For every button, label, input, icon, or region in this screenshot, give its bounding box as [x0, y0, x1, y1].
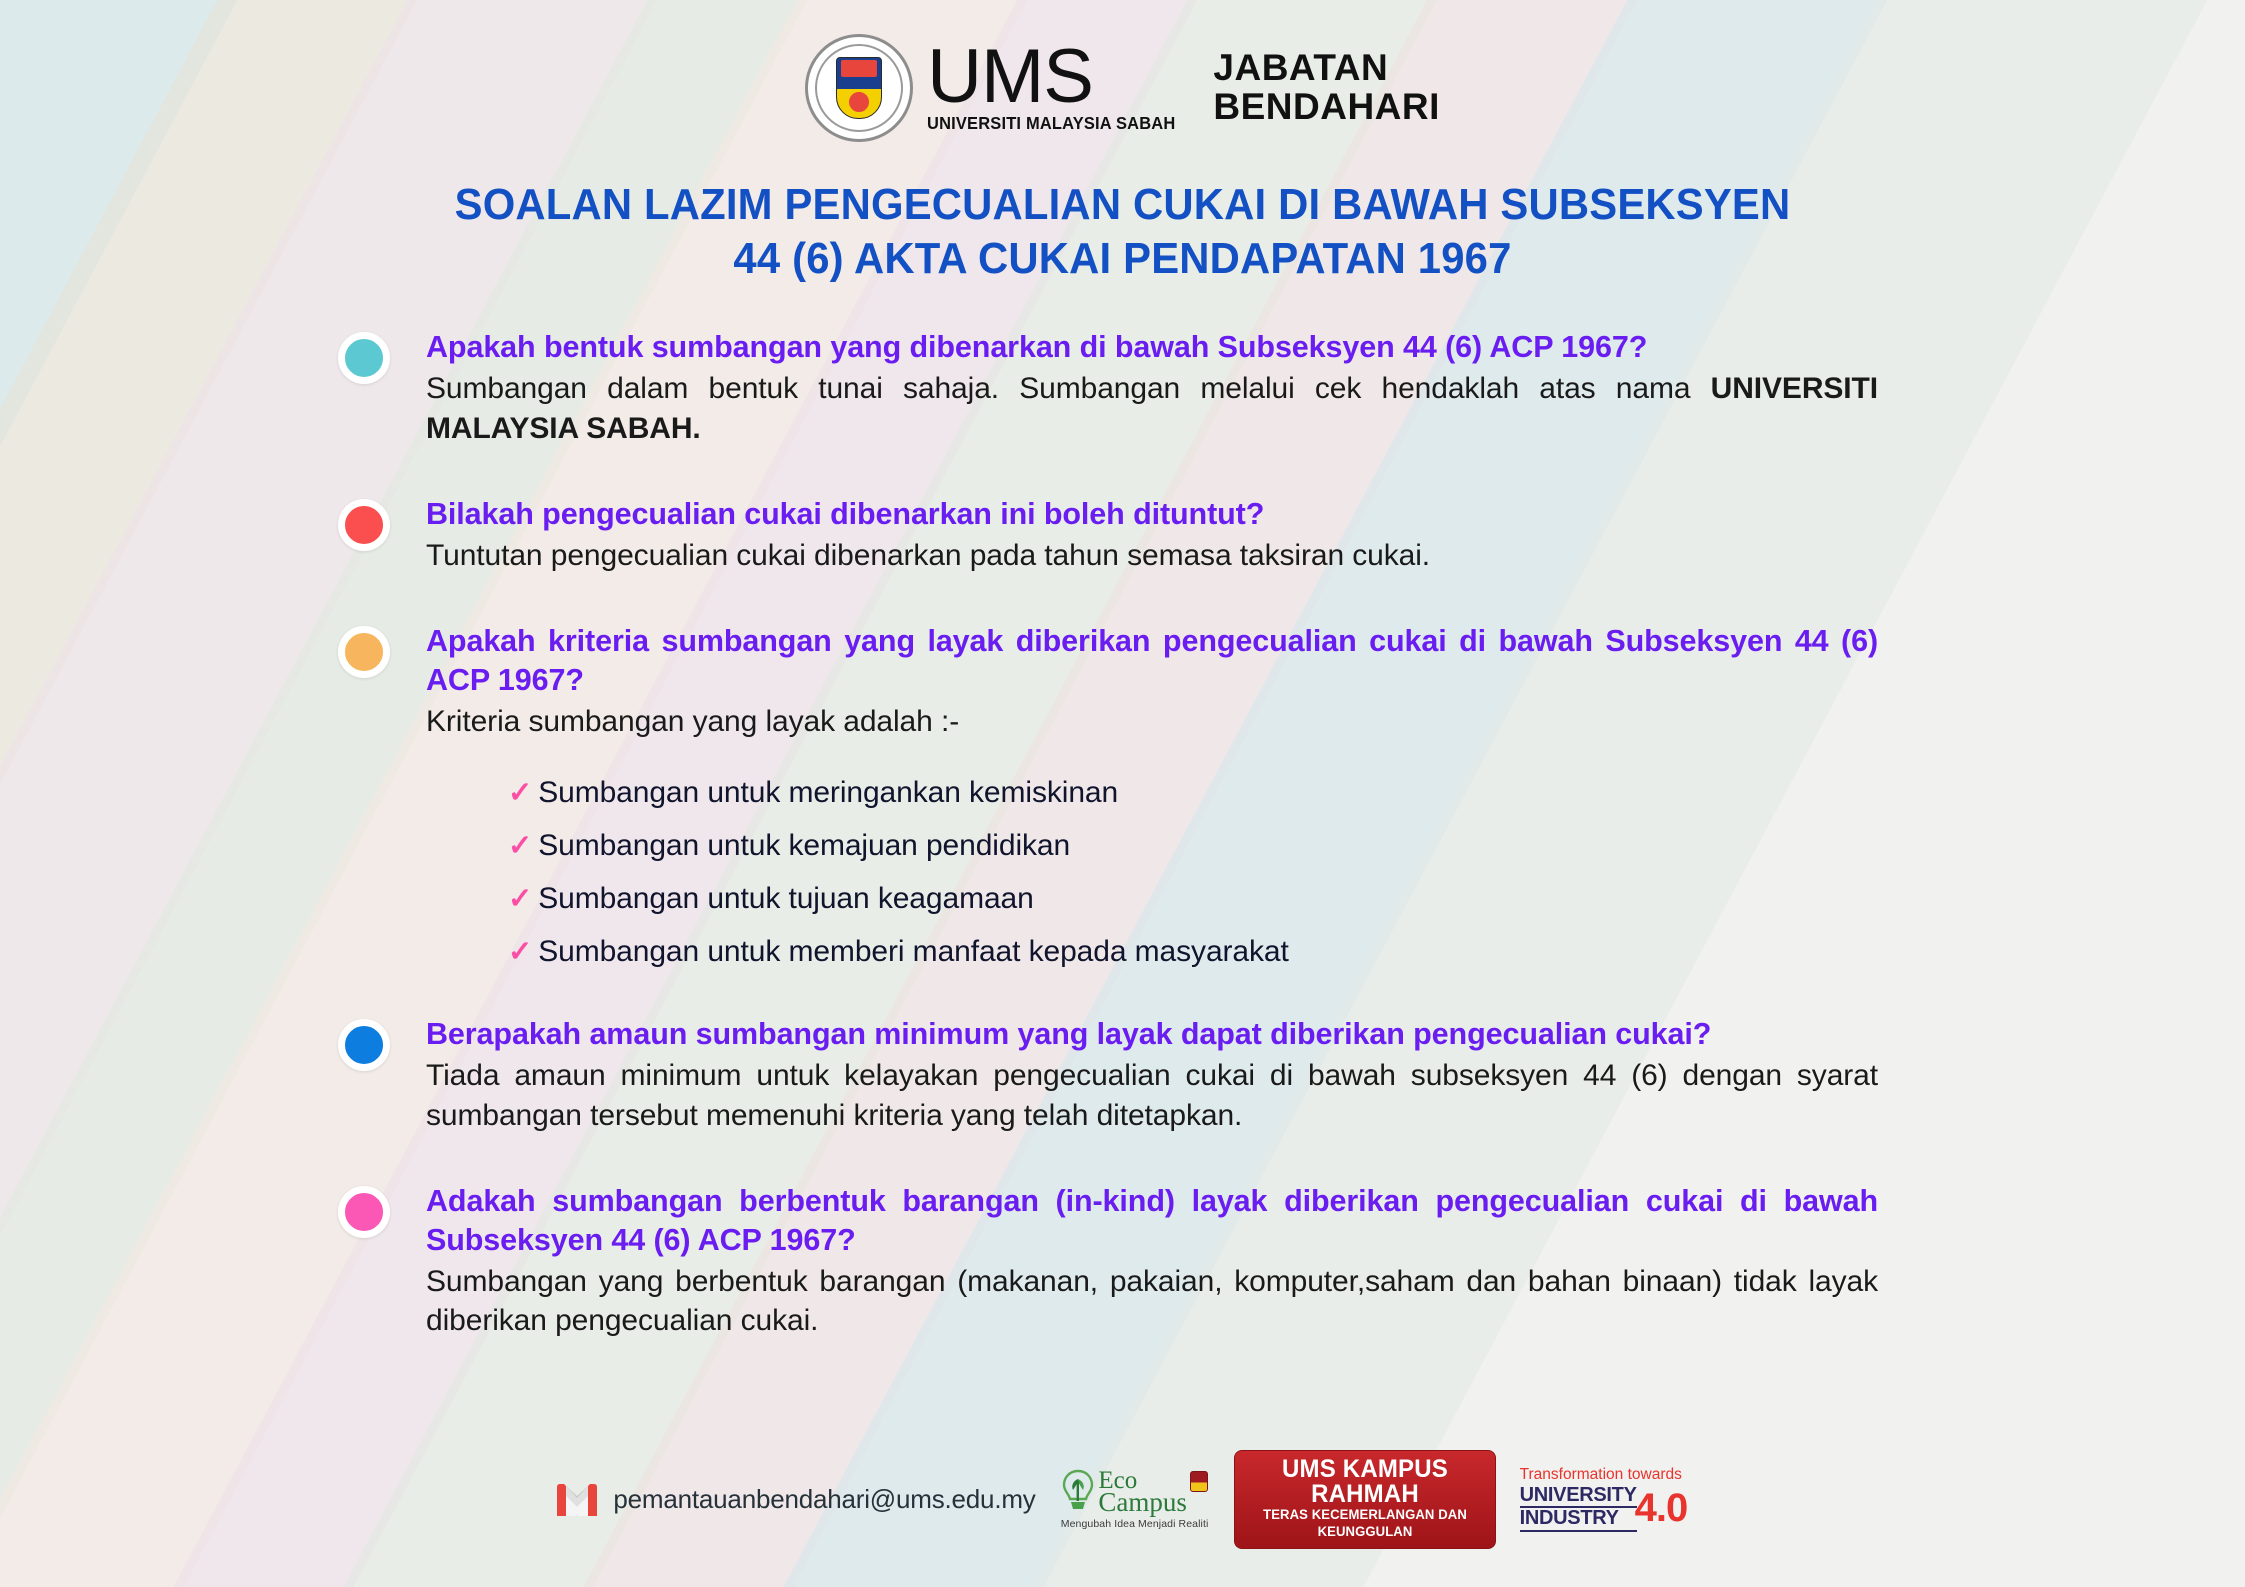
- department-name: JABATAN BENDAHARI: [1213, 49, 1440, 127]
- industry-word-university: UNIVERSITY: [1520, 1485, 1637, 1509]
- faq-list: Apakah bentuk sumbangan yang dibenarkan …: [338, 328, 1878, 1341]
- faq-answer-text: Sumbangan dalam bentuk tunai sahaja. Sum…: [426, 372, 1711, 405]
- poster-header: UMS UNIVERSITI MALAYSIA SABAH JABATAN BE…: [0, 28, 2245, 148]
- eco-campus-mark: Eco Campus: [1061, 1469, 1208, 1515]
- industry-version-number: 4.0: [1635, 1490, 1688, 1526]
- eco-tagline: Mengubah Idea Menjadi Realiti: [1061, 1518, 1209, 1530]
- criteria-item: ✓ Sumbangan untuk memberi manfaat kepada…: [508, 935, 1878, 969]
- criteria-checklist: ✓ Sumbangan untuk meringankan kemiskinan…: [426, 776, 1878, 969]
- industry-mark: UNIVERSITY INDUSTRY 4.0: [1520, 1485, 1690, 1532]
- rahmah-subtitle: TERAS KECEMERLANGAN DAN KEUNGGULAN: [1252, 1507, 1477, 1541]
- eco-mini-crest-icon: [1190, 1471, 1208, 1492]
- poster-footer: pemantauanbendahari@ums.edu.my Eco Campu…: [0, 1450, 2245, 1549]
- bullet-dot-icon: [338, 1186, 390, 1238]
- faq-answer: Tiada amaun minimum untuk kelayakan peng…: [426, 1056, 1878, 1136]
- rahmah-title: UMS KAMPUS RAHMAH: [1253, 1457, 1476, 1507]
- check-icon: ✓: [508, 938, 532, 967]
- faq-question: Adakah sumbangan berbentuk barangan (in-…: [426, 1182, 1878, 1260]
- faq-answer: Kriteria sumbangan yang layak adalah :-: [426, 702, 1878, 742]
- bullet-dot-icon: [338, 499, 390, 551]
- industry-word-industry: INDUSTRY: [1520, 1508, 1637, 1532]
- criteria-label: Sumbangan untuk tujuan keagamaan: [538, 882, 1034, 916]
- faq-item: Adakah sumbangan berbentuk barangan (in-…: [338, 1182, 1878, 1342]
- criteria-label: Sumbangan untuk meringankan kemiskinan: [538, 776, 1118, 810]
- eco-campus-logo: Eco Campus Mengubah Idea Menjadi Realiti: [1060, 1469, 1210, 1530]
- page-title: SOALAN LAZIM PENGECUALIAN CUKAI DI BAWAH…: [56, 178, 2189, 285]
- faq-item: Bilakah pengecualian cukai dibenarkan in…: [338, 495, 1878, 576]
- department-line-2: BENDAHARI: [1213, 88, 1440, 127]
- eco-line-2: Campus: [1098, 1491, 1187, 1514]
- faq-answer: Tuntutan pengecualian cukai dibenarkan p…: [426, 536, 1878, 576]
- industry-4-0-logo: Transformation towards UNIVERSITY INDUST…: [1520, 1467, 1690, 1532]
- faq-answer: Sumbangan yang berbentuk barangan (makan…: [426, 1262, 1878, 1342]
- faq-question: Apakah bentuk sumbangan yang dibenarkan …: [426, 328, 1878, 367]
- poster-root: UMS UNIVERSITI MALAYSIA SABAH JABATAN BE…: [0, 0, 2245, 1587]
- criteria-label: Sumbangan untuk kemajuan pendidikan: [538, 829, 1070, 863]
- faq-item: Apakah kriteria sumbangan yang layak dib…: [338, 622, 1878, 969]
- ums-wordmark: UMS UNIVERSITI MALAYSIA SABAH: [927, 42, 1191, 134]
- faq-item: Apakah bentuk sumbangan yang dibenarkan …: [338, 328, 1878, 449]
- bullet-dot-icon: [338, 626, 390, 678]
- eco-campus-wordmark: Eco Campus: [1098, 1470, 1187, 1515]
- email-address[interactable]: pemantauanbendahari@ums.edu.my: [613, 1484, 1035, 1515]
- bullet-dot-icon: [338, 332, 390, 384]
- ums-fullname: UNIVERSITI MALAYSIA SABAH: [927, 113, 1175, 134]
- eco-bulb-leaf-icon: [1061, 1469, 1095, 1515]
- ums-kampus-rahmah-logo: UMS KAMPUS RAHMAH TERAS KECEMERLANGAN DA…: [1234, 1450, 1496, 1549]
- criteria-item: ✓ Sumbangan untuk kemajuan pendidikan: [508, 829, 1878, 863]
- industry-tagline: Transformation towards: [1520, 1467, 1690, 1483]
- criteria-item: ✓ Sumbangan untuk tujuan keagamaan: [508, 882, 1878, 916]
- criteria-item: ✓ Sumbangan untuk meringankan kemiskinan: [508, 776, 1878, 810]
- criteria-label: Sumbangan untuk memberi manfaat kepada m…: [538, 935, 1289, 969]
- faq-question: Bilakah pengecualian cukai dibenarkan in…: [426, 495, 1878, 534]
- page-title-line-1: SOALAN LAZIM PENGECUALIAN CUKAI DI BAWAH…: [56, 178, 2189, 232]
- faq-answer: Sumbangan dalam bentuk tunai sahaja. Sum…: [426, 369, 1878, 449]
- crest-shield-icon: [836, 57, 882, 119]
- page-title-line-2: 44 (6) AKTA CUKAI PENDAPATAN 1967: [56, 232, 2189, 286]
- check-icon: ✓: [508, 832, 532, 861]
- bullet-dot-icon: [338, 1019, 390, 1071]
- industry-words: UNIVERSITY INDUSTRY: [1520, 1485, 1637, 1532]
- ums-acronym: UMS: [927, 42, 1093, 112]
- check-icon: ✓: [508, 779, 532, 808]
- check-icon: ✓: [508, 885, 532, 914]
- faq-question: Berapakah amaun sumbangan minimum yang l…: [426, 1015, 1878, 1054]
- gmail-icon: [555, 1483, 599, 1517]
- faq-question: Apakah kriteria sumbangan yang layak dib…: [426, 622, 1878, 700]
- ums-crest-icon: [805, 34, 913, 142]
- faq-item: Berapakah amaun sumbangan minimum yang l…: [338, 1015, 1878, 1136]
- department-line-1: JABATAN: [1213, 49, 1440, 88]
- contact-email-block[interactable]: pemantauanbendahari@ums.edu.my: [555, 1483, 1035, 1517]
